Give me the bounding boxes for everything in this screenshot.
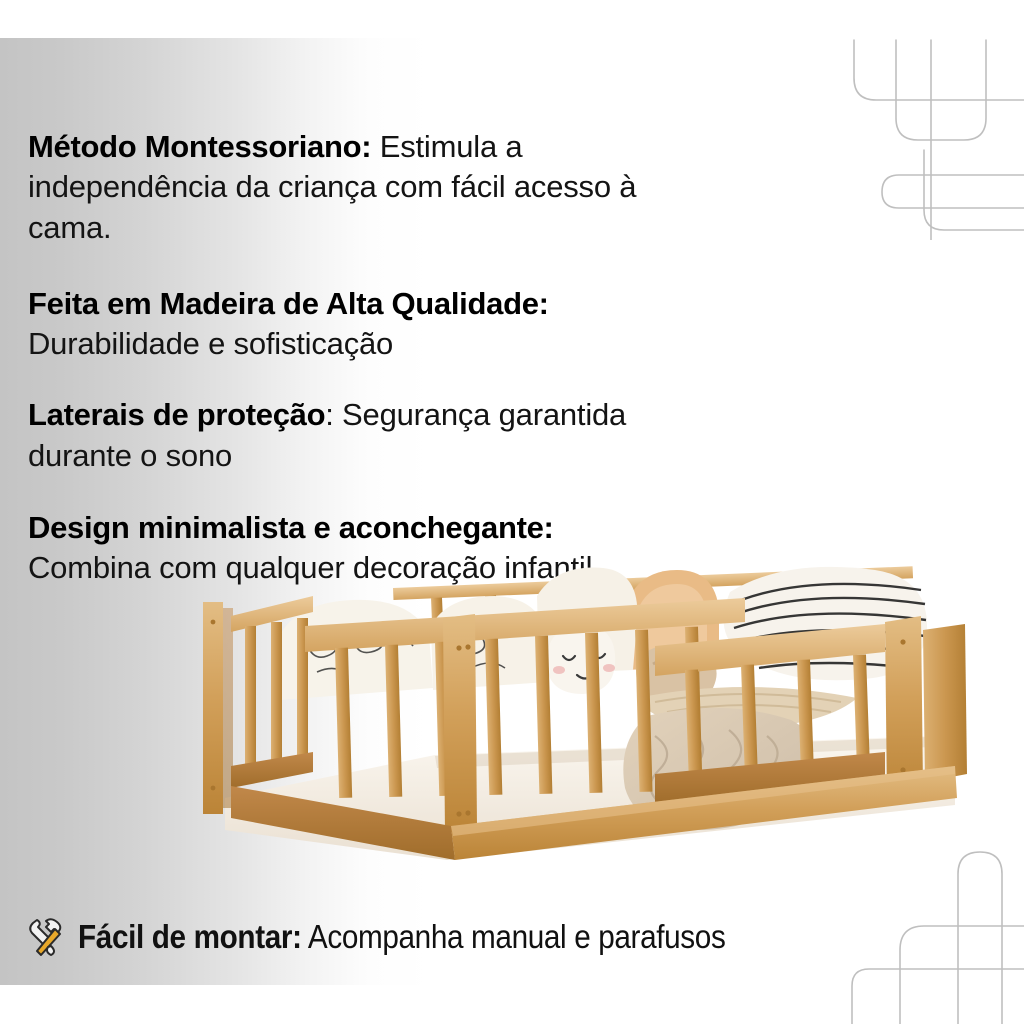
feature-paragraph: Laterais de proteção: Segurança garantid…	[28, 395, 728, 476]
footer-assembly-note: Fácil de montar: Acompanha manual e para…	[24, 916, 797, 958]
feature-body: Durabilidade e sofisticação	[28, 326, 393, 361]
feature-title: Feita em Madeira de Alta Qualidade:	[28, 286, 549, 321]
feature-block-metodo: Método Montessoriano: Estimula a indepen…	[28, 127, 728, 248]
feature-block-madeira: Feita em Madeira de Alta Qualidade:Durab…	[28, 284, 728, 365]
product-feature-card: Método Montessoriano: Estimula a indepen…	[0, 0, 1024, 1024]
feature-title: Laterais de proteção	[28, 397, 325, 432]
feature-title: Método Montessoriano:	[28, 129, 371, 164]
footer-strong: Fácil de montar:	[78, 918, 302, 955]
hammer-and-wrench-icon	[24, 916, 66, 958]
feature-paragraph: Feita em Madeira de Alta Qualidade:Durab…	[28, 284, 728, 365]
feature-block-laterais: Laterais de proteção: Segurança garantid…	[28, 395, 728, 476]
feature-paragraph: Método Montessoriano: Estimula a indepen…	[28, 127, 728, 248]
footer-text: Fácil de montar: Acompanha manual e para…	[78, 918, 725, 956]
footer-rest: Acompanha manual e parafusos	[302, 918, 726, 955]
product-image-montessori-bed	[185, 530, 985, 895]
